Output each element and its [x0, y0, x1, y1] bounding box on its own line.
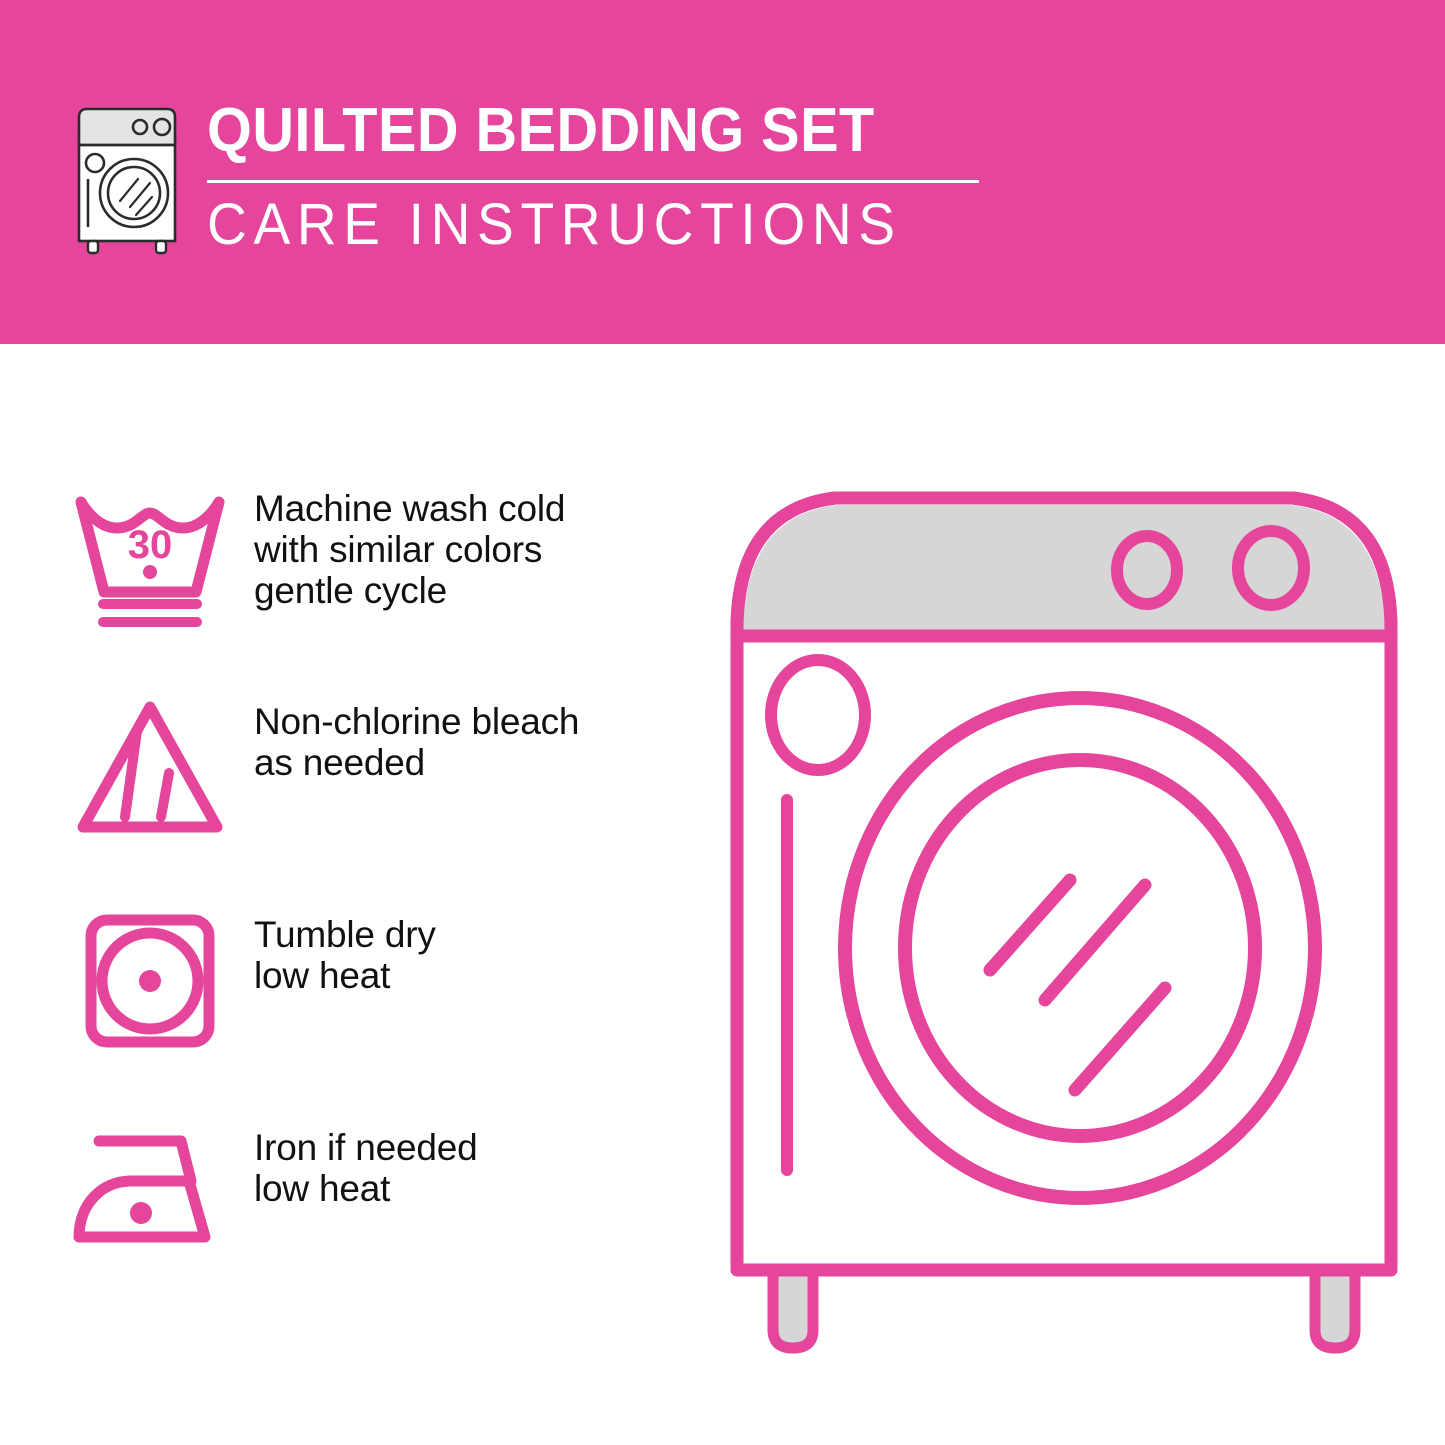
care-label-line: Tumble dry — [254, 914, 436, 955]
care-label-line: low heat — [254, 1168, 477, 1209]
header-banner: QUILTED BEDDING SET CARE INSTRUCTIONS — [0, 0, 1445, 344]
care-label-line: low heat — [254, 955, 436, 996]
care-instructions-list: 30 Machine wash cold with similar colors… — [60, 470, 700, 1322]
care-row-iron: Iron if needed low heat — [60, 1109, 700, 1322]
care-row-tumble-dry: Tumble dry low heat — [60, 896, 700, 1109]
header-text-block: QUILTED BEDDING SET CARE INSTRUCTIONS — [207, 96, 997, 257]
care-label-line: gentle cycle — [254, 570, 565, 611]
page-subtitle: CARE INSTRUCTIONS — [207, 193, 958, 257]
care-label-bleach: Non-chlorine bleach as needed — [240, 683, 579, 783]
care-label-wash: Machine wash cold with similar colors ge… — [240, 470, 565, 611]
care-label-line: with similar colors — [254, 529, 565, 570]
care-row-wash: 30 Machine wash cold with similar colors… — [60, 470, 700, 683]
care-label-line: Non-chlorine bleach — [254, 701, 579, 742]
tumble-dry-low-heat-icon — [60, 896, 240, 1056]
care-label-line: Iron if needed — [254, 1127, 477, 1168]
washing-machine-logo-icon — [62, 103, 192, 255]
front-load-washing-machine-illustration — [715, 470, 1415, 1370]
care-label-tumble-dry: Tumble dry low heat — [240, 896, 436, 996]
care-row-bleach: Non-chlorine bleach as needed — [60, 683, 700, 896]
title-divider — [207, 180, 979, 183]
non-chlorine-bleach-triangle-icon — [60, 683, 240, 843]
machine-control-panel — [743, 505, 1385, 636]
wash-temperature-value: 30 — [128, 523, 173, 567]
care-label-line: as needed — [254, 742, 579, 783]
page-title: QUILTED BEDDING SET — [207, 96, 942, 166]
wash-tub-30-gentle-icon: 30 — [60, 470, 240, 630]
iron-low-heat-icon — [60, 1109, 240, 1269]
care-label-line: Machine wash cold — [254, 488, 565, 529]
care-label-iron: Iron if needed low heat — [240, 1109, 477, 1209]
